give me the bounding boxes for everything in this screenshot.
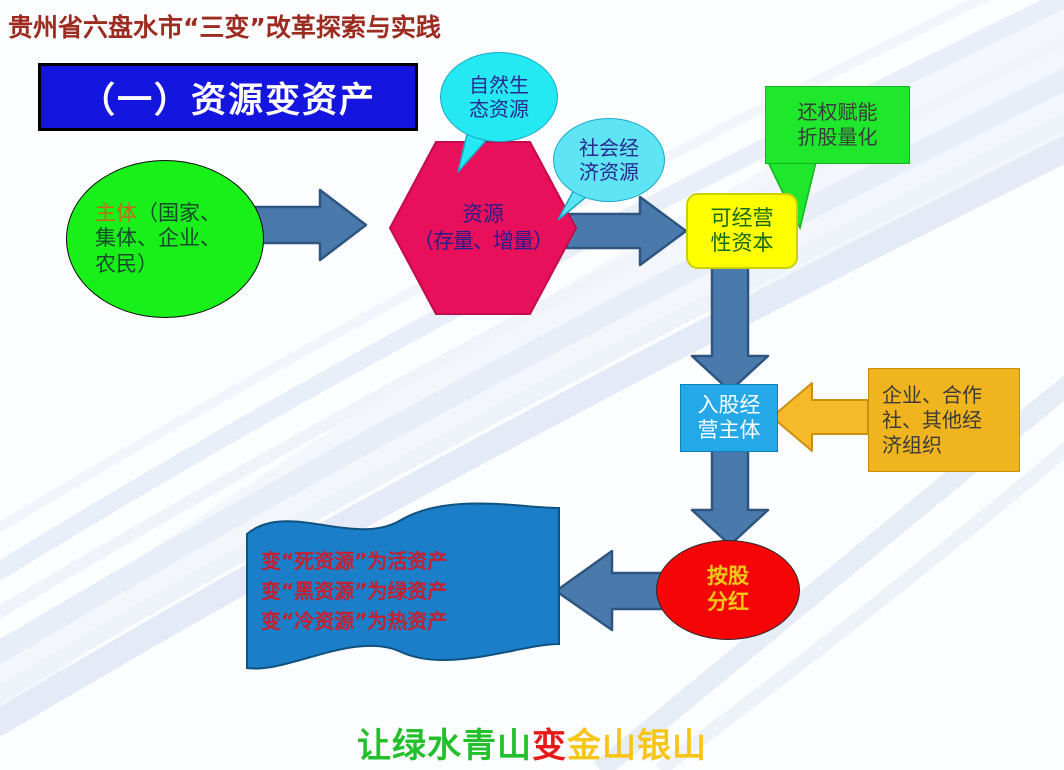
node-operational-capital-label: 可经营 性资本 bbox=[711, 206, 774, 256]
node-subject[interactable]: 主体（国家、集体、企业、农民） bbox=[66, 160, 264, 318]
slogan-part-gold: 金山银山 bbox=[567, 726, 707, 766]
page-title: 贵州省六盘水市“三变”改革探索与实践 bbox=[8, 8, 441, 44]
node-organizations-line3: 济组织 bbox=[882, 433, 1006, 458]
callout-social-line1: 社会经 bbox=[579, 136, 639, 160]
node-dividend-line2: 分红 bbox=[707, 590, 749, 616]
node-entity-line2: 营主体 bbox=[698, 418, 761, 443]
node-subject-highlight: 主体 bbox=[95, 201, 137, 225]
callout-empowerment-line1: 还权赋能 bbox=[798, 100, 878, 125]
node-entity-line1: 入股经 bbox=[698, 393, 761, 418]
outcome-wave-banner[interactable]: 变“死资源”为活资产 变“黑资源”为绿资产 变“冷资源”为热资产 bbox=[243, 502, 563, 678]
node-dividend-by-shares[interactable]: 按股 分红 bbox=[656, 540, 800, 640]
section-header-label: （一）资源变资产 bbox=[80, 72, 376, 123]
callout-social-line2: 济资源 bbox=[579, 160, 639, 184]
section-header-banner: （一）资源变资产 bbox=[38, 63, 418, 131]
node-organizations-line1: 企业、合作 bbox=[882, 383, 1006, 408]
callout-empowerment-text: 还权赋能 折股量化 bbox=[798, 100, 878, 150]
slogan-part-green: 让绿水青山 bbox=[357, 726, 532, 766]
callout-empowerment-line2: 折股量化 bbox=[798, 125, 878, 150]
slogan-part-red: 变 bbox=[532, 726, 567, 766]
node-dividend-line1: 按股 bbox=[707, 564, 749, 590]
callout-social-text: 社会经 济资源 bbox=[579, 136, 639, 185]
callout-social-economic-resource[interactable]: 社会经 济资源 bbox=[553, 118, 665, 202]
callout-natural-resource[interactable]: 自然生 态资源 bbox=[440, 52, 558, 142]
arrow-capital-to-entity bbox=[692, 266, 768, 391]
node-operational-capital[interactable]: 可经营 性资本 bbox=[686, 193, 798, 269]
callout-natural-line2: 态资源 bbox=[469, 97, 529, 121]
node-shareholding-entity[interactable]: 入股经 营主体 bbox=[680, 384, 778, 452]
node-capital-line2: 性资本 bbox=[711, 231, 774, 256]
wave-banner-line1: 变“死资源”为活资产 bbox=[261, 546, 551, 576]
arrow-entity-to-dividend bbox=[692, 450, 768, 545]
node-subject-label: 主体（国家、集体、企业、农民） bbox=[95, 201, 235, 278]
node-dividend-label: 按股 分红 bbox=[707, 564, 749, 615]
arrow-organizations-to-entity bbox=[772, 383, 868, 451]
callout-empowerment[interactable]: 还权赋能 折股量化 bbox=[765, 86, 910, 164]
bottom-slogan: 让绿水青山变金山银山 bbox=[0, 718, 1064, 767]
node-shareholding-entity-label: 入股经 营主体 bbox=[698, 393, 761, 443]
node-capital-line1: 可经营 bbox=[711, 206, 774, 231]
node-economic-organizations-label: 企业、合作 社、其他经 济组织 bbox=[882, 383, 1006, 458]
arrow-dividend-to-wave-banner bbox=[556, 551, 672, 630]
outcome-wave-banner-text: 变“死资源”为活资产 变“黑资源”为绿资产 变“冷资源”为热资产 bbox=[261, 546, 551, 636]
callout-natural-line1: 自然生 bbox=[469, 73, 529, 97]
node-organizations-line2: 社、其他经 bbox=[882, 408, 1006, 433]
slide-canvas: 贵州省六盘水市“三变”改革探索与实践 （一）资源变资产 bbox=[0, 0, 1064, 770]
wave-banner-line2: 变“黑资源”为绿资产 bbox=[261, 576, 551, 606]
callout-natural-text: 自然生 态资源 bbox=[469, 73, 529, 122]
wave-banner-line3: 变“冷资源”为热资产 bbox=[261, 606, 551, 636]
node-economic-organizations[interactable]: 企业、合作 社、其他经 济组织 bbox=[868, 368, 1020, 472]
